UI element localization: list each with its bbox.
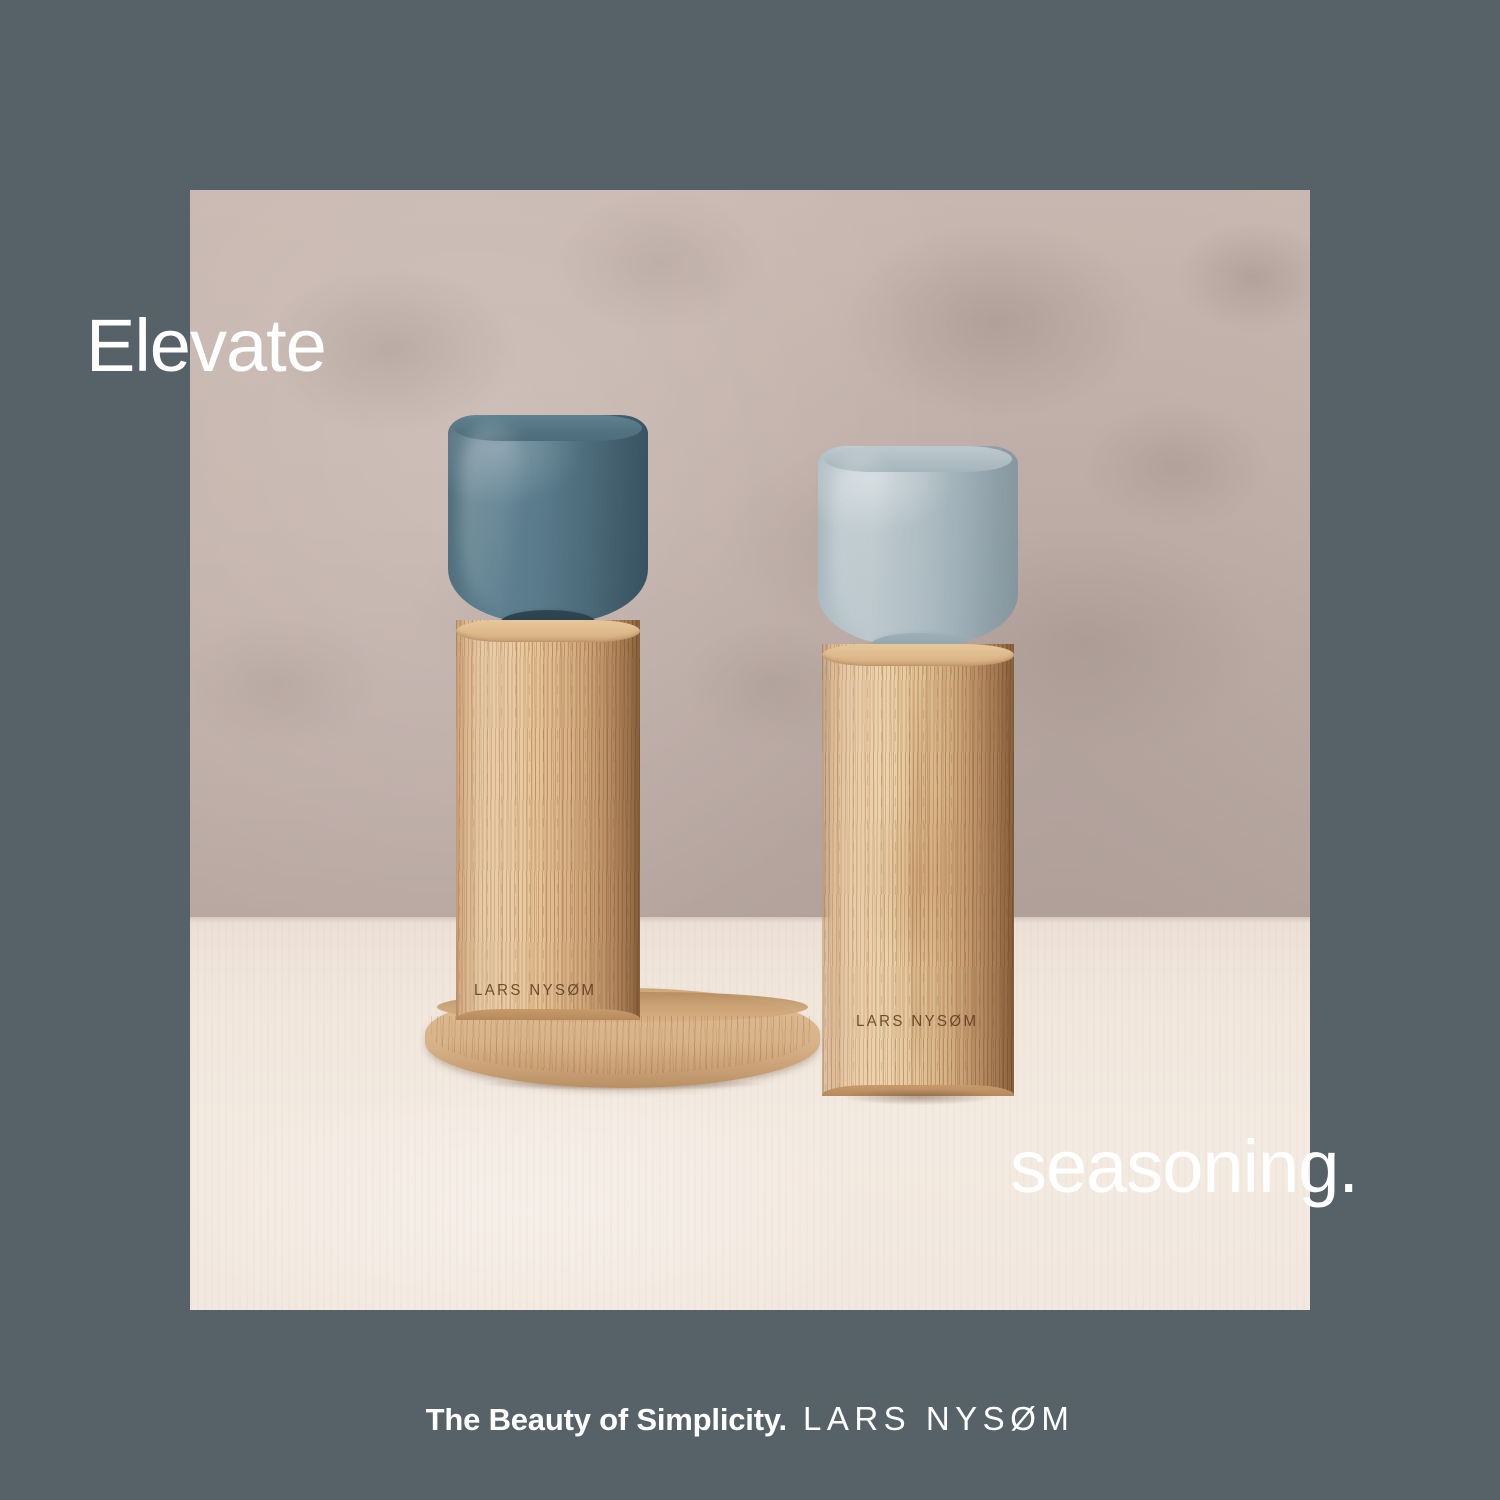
advertisement-canvas: LARS NYSØM LARS NYSØM Elevate (0, 0, 1500, 1500)
barrel-top-rim (456, 620, 640, 642)
brand-engraving: LARS NYSØM (474, 982, 596, 1000)
headline-line-bottom: seasoning. (1010, 1130, 1358, 1204)
brand-logo-wordmark: LARS NYSØM (803, 1400, 1074, 1438)
footer-tagline: The Beauty of Simplicity. (426, 1402, 787, 1438)
wood-shading (456, 620, 640, 1020)
concrete-wall-background (190, 190, 1310, 917)
salt-mill-ceramic-cap (818, 446, 1018, 646)
brand-engraving: LARS NYSØM (856, 1013, 978, 1031)
cap-highlight (830, 454, 898, 630)
cap-highlight (460, 423, 528, 606)
salt-mill-shadow (812, 1084, 1026, 1110)
salt-mill: LARS NYSØM (818, 446, 1018, 1096)
pepper-mill: LARS NYSØM (448, 415, 648, 1035)
barrel-top-rim (822, 644, 1014, 666)
pepper-mill-wood-barrel (456, 620, 640, 1020)
footer-bar: The Beauty of Simplicity. LARS NYSØM (0, 1400, 1500, 1438)
barrel-bottom-rim (456, 1009, 640, 1020)
headline-line-top: Elevate (86, 309, 326, 383)
pepper-mill-ceramic-cap (448, 415, 648, 623)
table-surface (190, 917, 1310, 1310)
